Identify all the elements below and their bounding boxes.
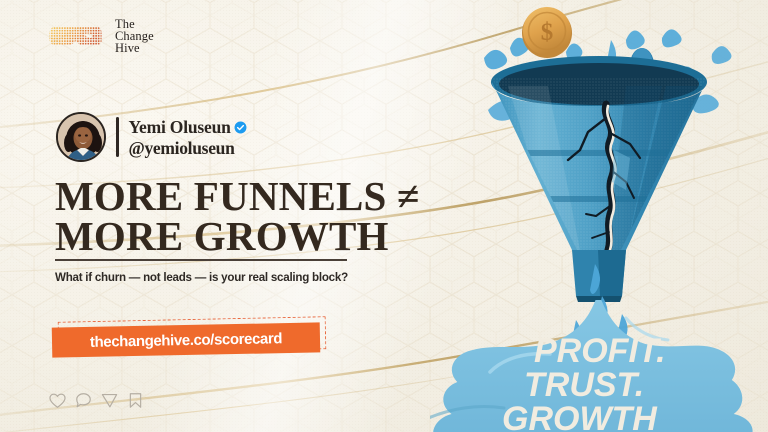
social-actions-bar[interactable] — [48, 391, 145, 410]
profile-handle: @yemioluseun — [129, 139, 247, 157]
infinity-dots-logo-icon — [48, 19, 106, 53]
display-name-row: Yemi Oluseun — [129, 117, 247, 138]
headline-line-1: MORE FUNNELS ≠ — [55, 176, 475, 216]
headline-underline — [55, 259, 347, 261]
subtitle: What if churn — not leads — is your real… — [55, 271, 348, 284]
display-name: Yemi Oluseun — [129, 117, 231, 138]
spilled-puddle-icon: PROFIT. TRUST. GROWTH — [430, 300, 753, 432]
heart-icon[interactable] — [48, 391, 67, 410]
puddle-word-3: GROWTH — [502, 400, 658, 432]
user-avatar-photo-icon — [58, 114, 106, 162]
profile-block[interactable]: Yemi Oluseun @yemioluseun — [56, 112, 247, 162]
profile-divider — [116, 117, 119, 157]
speech-bubble-icon[interactable] — [74, 391, 93, 410]
cta-label: thechangehive.co/scorecard — [90, 330, 282, 351]
cta-link-button[interactable]: thechangehive.co/scorecard — [52, 322, 321, 357]
poster-canvas: The Change Hive — [0, 0, 768, 432]
verified-badge-icon — [234, 121, 247, 134]
cracked-funnel-icon — [490, 78, 710, 302]
bookmark-icon[interactable] — [126, 391, 145, 410]
headline-line-2: MORE GROWTH — [55, 216, 475, 256]
brand-logo[interactable]: The Change Hive — [48, 18, 154, 55]
cta-block[interactable]: thechangehive.co/scorecard — [44, 318, 334, 360]
svg-text:$: $ — [541, 19, 554, 46]
puddle-word-1: PROFIT. — [534, 332, 666, 370]
profile-names: Yemi Oluseun @yemioluseun — [129, 117, 247, 157]
cracked-funnel-illustration: $ $ — [430, 0, 768, 432]
brand-name-line-3: Hive — [115, 42, 154, 54]
dollar-coin-icon-1: $ — [522, 7, 572, 58]
puddle-word-2: TRUST. — [524, 366, 644, 404]
paper-plane-icon[interactable] — [100, 391, 119, 410]
avatar[interactable] — [56, 112, 106, 162]
page-title: MORE FUNNELS ≠ MORE GROWTH — [55, 176, 475, 256]
brand-name: The Change Hive — [115, 18, 154, 55]
